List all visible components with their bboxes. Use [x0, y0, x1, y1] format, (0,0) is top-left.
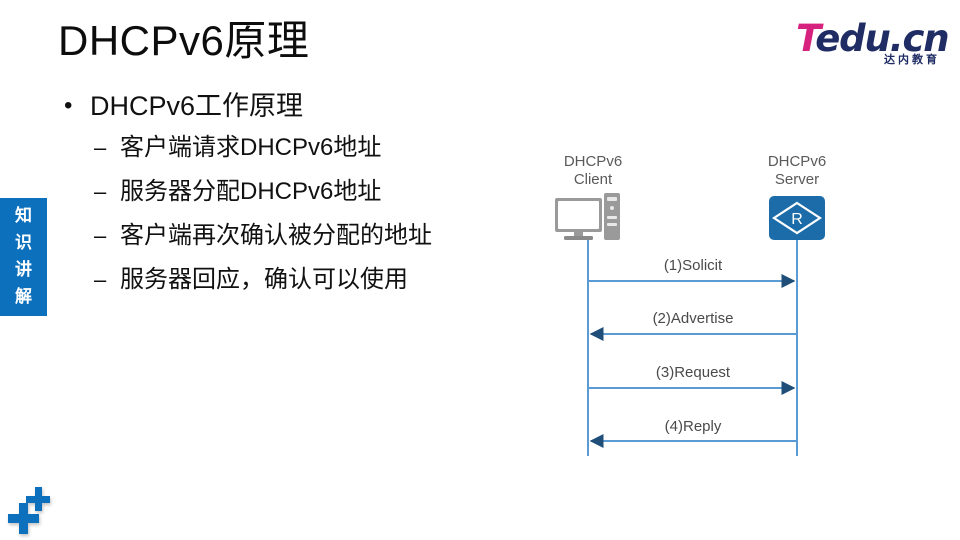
message-label-solicit: (1)Solicit	[588, 257, 798, 275]
bullet-level2-text: 客户端请求DHCPv6地址	[120, 134, 381, 161]
logo-subtitle: 达内教育	[884, 53, 940, 67]
client-label-line2: Client	[538, 171, 648, 189]
server-label-line1: DHCPv6	[742, 153, 852, 171]
section-badge-char: 知	[15, 203, 32, 230]
slide-canvas: DHCPv6原理 Tedu.cn 达内教育 知 识 讲 解 • DHCPv6工作…	[0, 0, 960, 540]
server-label-line2: Server	[742, 171, 852, 189]
bullet-level2-text: 服务器回应，确认可以使用	[120, 266, 408, 293]
bullet-marker-dot: •	[64, 86, 72, 126]
section-badge-char: 讲	[15, 257, 32, 284]
bullet-level2-text: 客户端再次确认被分配的地址	[120, 222, 432, 249]
bullet-level2-text: 服务器分配DHCPv6地址	[120, 178, 381, 205]
client-label-line1: DHCPv6	[538, 153, 648, 171]
bullet-level2: – 服务器回应，确认可以使用	[62, 258, 532, 302]
tedu-logo: Tedu.cn 达内教育	[796, 19, 942, 71]
page-title: DHCPv6原理	[58, 14, 309, 68]
client-node-label: DHCPv6 Client	[538, 153, 648, 189]
bullet-marker-dash: –	[94, 126, 106, 170]
server-node-label: DHCPv6 Server	[742, 153, 852, 189]
bullet-marker-dash: –	[94, 170, 106, 214]
section-badge-char: 解	[15, 284, 32, 311]
bullet-marker-dash: –	[94, 214, 106, 258]
bullet-level1-text: DHCPv6工作原理	[90, 91, 303, 121]
svg-text:R: R	[791, 211, 803, 228]
bullet-level2: – 服务器分配DHCPv6地址	[62, 170, 532, 214]
content-bullet-list: • DHCPv6工作原理 – 客户端请求DHCPv6地址 – 服务器分配DHCP…	[62, 86, 532, 302]
bullet-level1: • DHCPv6工作原理	[62, 86, 532, 126]
plus-decoration-large	[8, 503, 39, 534]
logo-letter-t: T	[796, 17, 815, 60]
section-badge-char: 识	[15, 230, 32, 257]
message-label-request: (3)Request	[588, 364, 798, 382]
desktop-computer-icon	[555, 193, 620, 240]
message-label-advertise: (2)Advertise	[588, 310, 798, 328]
dhcpv6-sequence-diagram: R DHCPv6 Client DHCPv6 Server (1)Solicit…	[520, 140, 920, 470]
router-icon: R	[769, 196, 825, 240]
section-badge: 知 识 讲 解	[0, 198, 47, 316]
bullet-level2: – 客户端请求DHCPv6地址	[62, 126, 532, 170]
message-label-reply: (4)Reply	[588, 418, 798, 436]
bullet-marker-dash: –	[94, 258, 106, 302]
bullet-level2: – 客户端再次确认被分配的地址	[62, 214, 532, 258]
